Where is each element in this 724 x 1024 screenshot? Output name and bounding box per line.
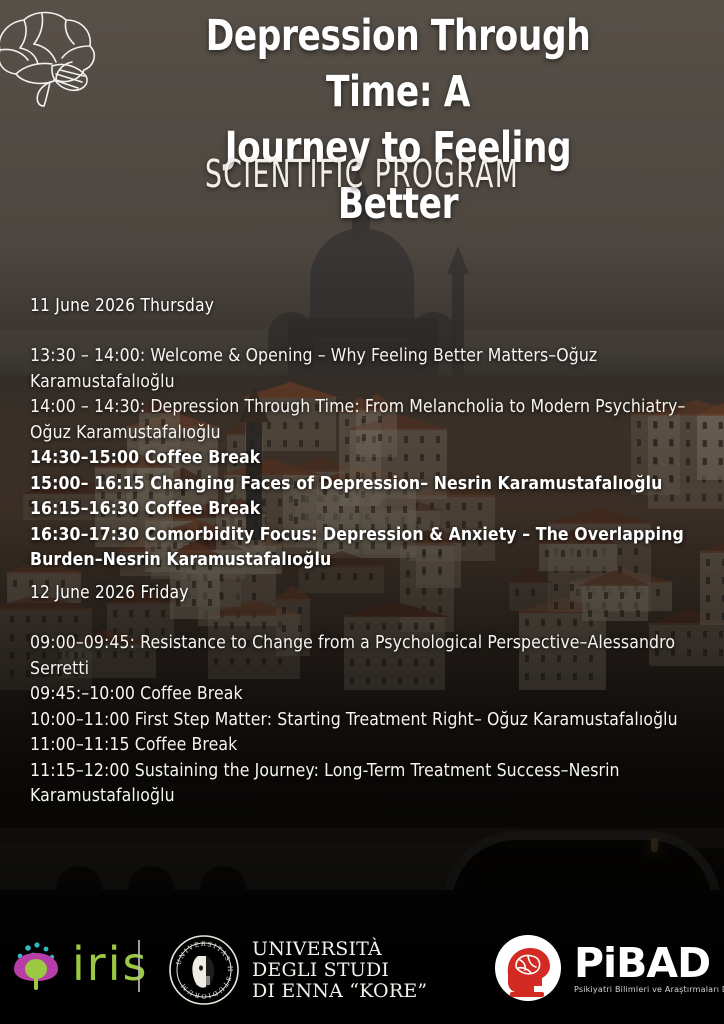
footer-divider xyxy=(138,940,140,992)
session-item: 11:00–11:15 Coffee Break xyxy=(30,733,701,759)
iris-flower-icon xyxy=(8,936,64,992)
session-item: 10:00–11:00 First Step Matter: Starting … xyxy=(30,708,701,734)
session-item: 09:45:–10:00 Coffee Break xyxy=(30,682,701,708)
poster-subtitle: SCIENTIFIC PROGRAM xyxy=(152,152,572,196)
conference-program-poster: Depression Through Time: A Journey to Fe… xyxy=(0,0,724,1024)
university-line-2: DEGLI STUDI xyxy=(252,960,427,981)
pibad-wordmark: PiBAD xyxy=(574,943,724,983)
page-title: Depression Through Time: A Journey to Fe… xyxy=(166,8,630,232)
session-item: 13:30 – 14:00: Welcome & Opening – Why F… xyxy=(30,344,701,395)
schedule-day-2: 12 June 2026 Friday 09:00–09:45: Resista… xyxy=(30,583,702,810)
iris-logo[interactable]: iris xyxy=(8,936,148,992)
pibad-text-block: PiBAD Psikiyatri Bilimleri ve Araştırmal… xyxy=(574,943,724,994)
day-heading: 12 June 2026 Friday xyxy=(30,583,621,603)
session-list: 09:00–09:45: Resistance to Change from a… xyxy=(30,631,702,810)
session-item: 15:00– 16:15 Changing Faces of Depressio… xyxy=(30,472,701,498)
session-item: 11:15–12:00 Sustaining the Journey: Long… xyxy=(30,759,701,810)
sponsor-footer: iris UNIVERSITAS HENNAE STUDIORUM xyxy=(0,920,724,1024)
session-item: 14:30–15:00 Coffee Break xyxy=(30,446,701,472)
iris-wordmark: iris xyxy=(72,941,148,987)
session-item: 09:00–09:45: Resistance to Change from a… xyxy=(30,631,701,682)
pibad-head-brain-icon xyxy=(494,934,562,1002)
university-logo[interactable]: UNIVERSITAS HENNAE STUDIORUM UNIVERSITÀ xyxy=(168,934,427,1006)
day-heading: 11 June 2026 Thursday xyxy=(30,296,621,316)
poster-content: Depression Through Time: A Journey to Fe… xyxy=(0,0,724,1024)
session-item: 14:00 – 14:30: Depression Through Time: … xyxy=(30,395,701,446)
session-item: 16:15–16:30 Coffee Break xyxy=(30,497,701,523)
title-line-1: Depression Through Time: A xyxy=(166,8,630,120)
university-seal-icon: UNIVERSITAS HENNAE STUDIORUM xyxy=(168,934,240,1006)
session-list: 13:30 – 14:00: Welcome & Opening – Why F… xyxy=(30,344,702,574)
pibad-logo[interactable]: PiBAD Psikiyatri Bilimleri ve Araştırmal… xyxy=(494,934,724,1002)
pibad-tagline: Psikiyatri Bilimleri ve Araştırmaları De… xyxy=(574,985,724,994)
university-line-3: DI ENNA “KORE” xyxy=(252,981,427,1002)
university-name: UNIVERSITÀ DEGLI STUDI DI ENNA “KORE” xyxy=(252,939,427,1002)
session-item: 16:30–17:30 Comorbidity Focus: Depressio… xyxy=(30,523,701,574)
schedule-day-1: 11 June 2026 Thursday 13:30 – 14:00: Wel… xyxy=(30,296,702,574)
university-line-1: UNIVERSITÀ xyxy=(252,939,427,960)
brain-icon xyxy=(0,4,106,108)
